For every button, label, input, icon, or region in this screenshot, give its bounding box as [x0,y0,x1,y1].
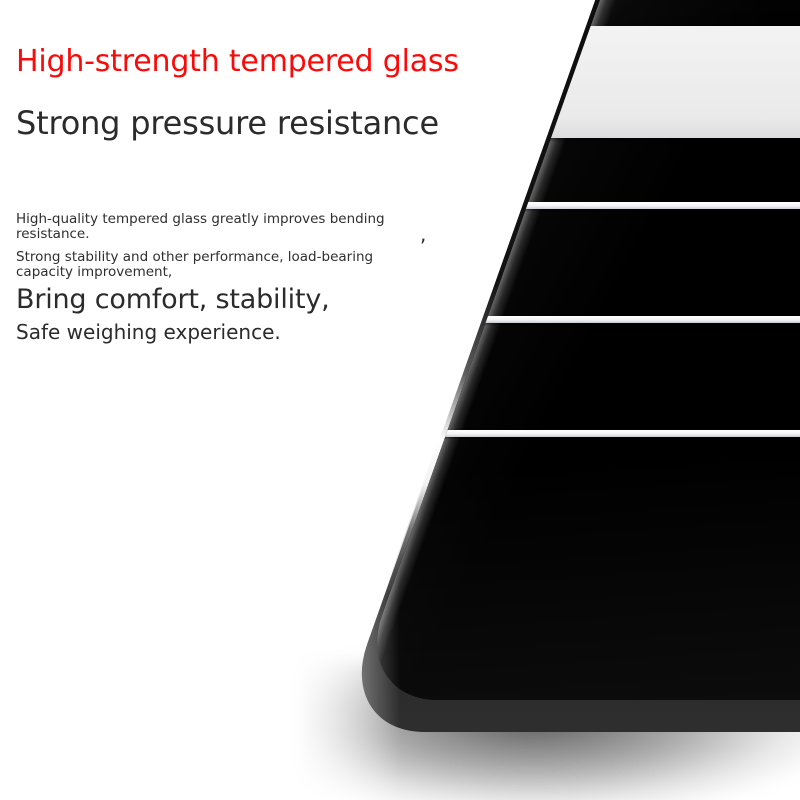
body-paragraph-1: High-quality tempered glass greatly impr… [16,212,416,242]
body-paragraph-2: Strong stability and other performance, … [16,250,416,280]
product-banner: High-strength tempered glass Strong pres… [0,0,800,800]
subheading-small: Safe weighing experience. [16,320,281,344]
headline-dark: Strong pressure resistance [16,104,439,142]
headline-red: High-strength tempered glass [16,44,459,79]
subheading-large: Bring comfort, stability, [16,284,330,315]
left-white-fade [250,430,400,800]
stray-comma-mark: , [420,222,426,246]
